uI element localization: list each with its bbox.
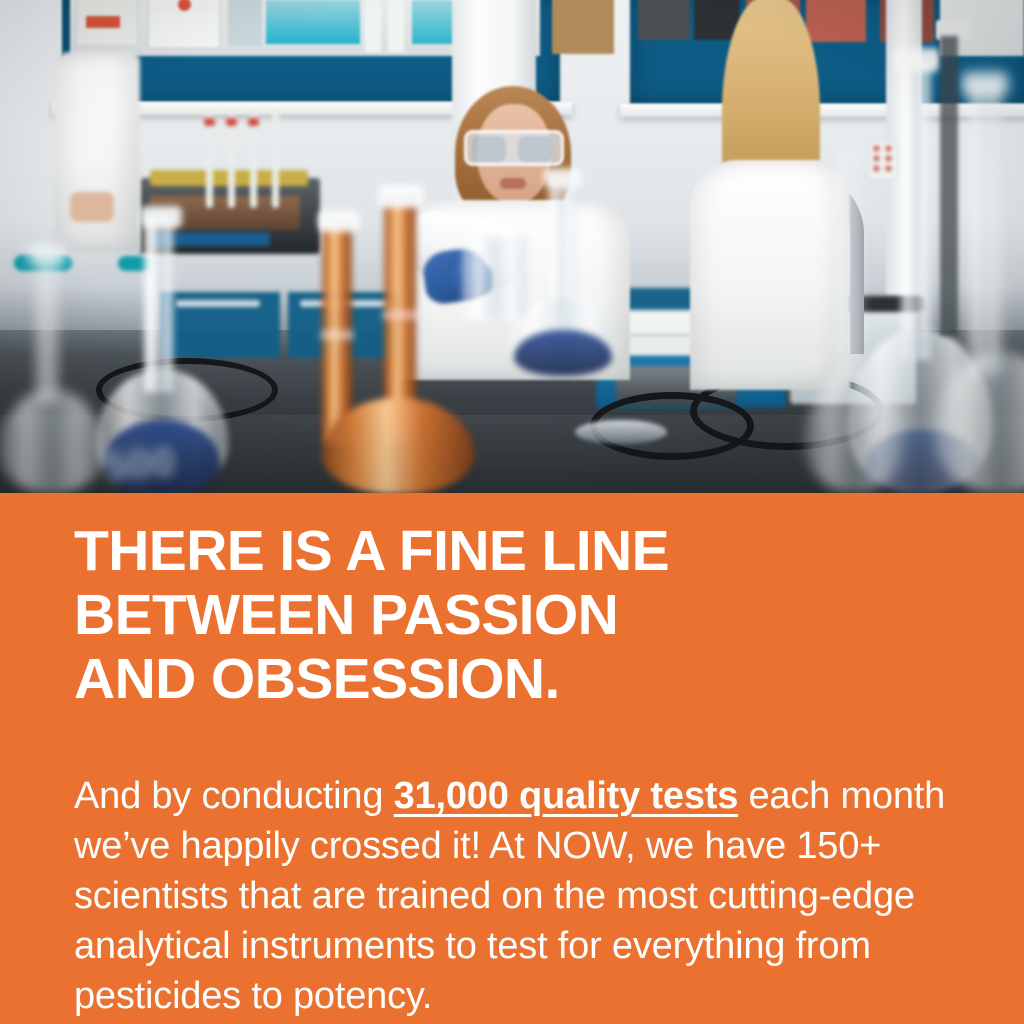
scientist-right-coat — [690, 160, 850, 390]
goggle-lens-right — [518, 136, 552, 162]
scientist-left-coat — [54, 52, 140, 252]
shelf-box — [638, 0, 690, 40]
headline-line-3: AND OBSESSION. — [74, 647, 964, 711]
test-tube — [206, 112, 213, 208]
test-tube — [250, 112, 257, 208]
flask-stopper — [378, 184, 424, 208]
flask-stopper — [894, 48, 940, 72]
equipment-rail — [940, 36, 958, 336]
cabinet-lip-right — [620, 104, 1024, 117]
headline-line-2: BETWEEN PASSION — [74, 583, 964, 647]
goggle-lens-left — [472, 136, 506, 162]
flask-stopper — [544, 168, 582, 188]
flask-neck — [836, 150, 862, 380]
watch-glass — [575, 420, 667, 444]
scientist-center-mouth — [500, 178, 526, 189]
test-tube — [228, 112, 235, 208]
tube-cap — [248, 118, 259, 126]
body-copy-after: each — [738, 775, 830, 817]
flask-label-500: 500 — [103, 437, 196, 485]
flask-neck — [36, 252, 58, 402]
social-post-card: 500 — [0, 0, 1024, 1024]
flask-neck — [900, 60, 932, 360]
lab-photo: 500 — [0, 0, 1024, 493]
headline: THERE IS A FINE LINE BETWEEN PASSION AND… — [74, 519, 964, 711]
body-copy-before: And by conducting — [74, 775, 394, 817]
wall-outlet — [868, 140, 898, 180]
flask-stopper — [962, 72, 1008, 96]
shelf-box — [806, 0, 866, 42]
body-copy: And by conducting 31,000 quality tests e… — [74, 771, 954, 1021]
beaker-body — [462, 236, 528, 320]
headline-line-1: THERE IS A FINE LINE — [74, 519, 964, 583]
shelf-bottle-blue — [266, 0, 360, 44]
flask-stopper — [318, 210, 360, 232]
shelf-box — [228, 0, 262, 46]
scientist-left-hand — [70, 192, 114, 222]
shelf-carton — [552, 0, 614, 54]
stat-highlight: 31,000 quality tests — [394, 775, 739, 817]
flask-blue-liquid — [514, 330, 612, 376]
shelf-label — [86, 16, 120, 28]
shelf-divider — [365, 0, 381, 52]
shelf-divider — [388, 0, 404, 52]
flask-graduation — [382, 310, 418, 320]
flask-highlight — [144, 216, 153, 392]
test-tube — [272, 112, 279, 208]
flask-neck — [968, 86, 1002, 374]
flask-stopper — [140, 206, 182, 228]
flask-graduation — [320, 330, 354, 340]
cabinet-handle — [176, 300, 260, 307]
tube-cap — [204, 118, 215, 126]
flask-stopper — [28, 244, 66, 264]
tube-cap — [226, 118, 237, 126]
